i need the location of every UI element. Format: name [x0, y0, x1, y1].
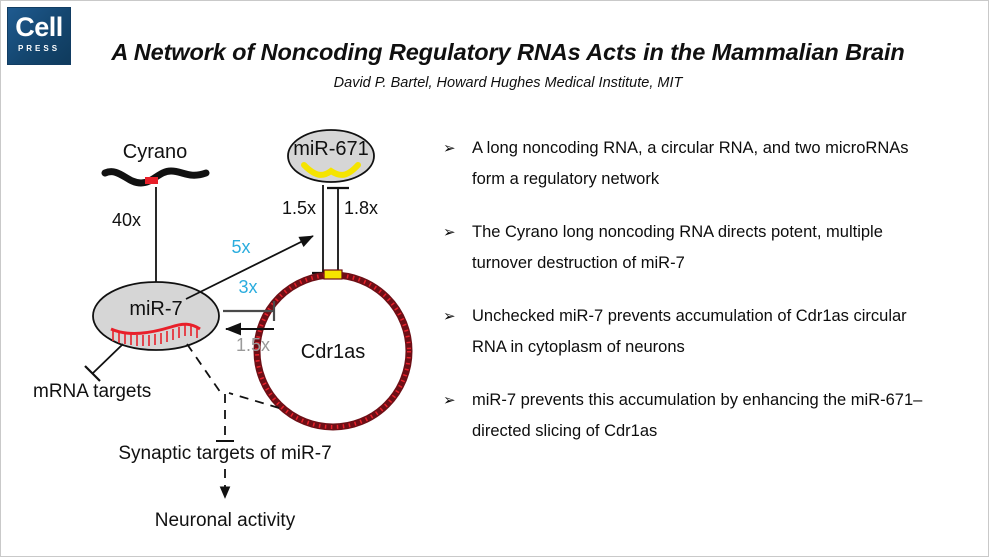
bullet-arrow-icon: ➢	[443, 301, 456, 332]
node-cdr1as: Cdr1as	[257, 270, 409, 427]
edge-mir671-to-cdr1as: 1.8x	[327, 188, 378, 273]
dashed-edge-mir7	[187, 344, 223, 396]
edge-label-1-5x-mir7: 1.5x	[236, 335, 270, 355]
page-subtitle: David P. Bartel, Howard Hughes Medical I…	[93, 75, 923, 91]
cell-logo-wordmark: Cell	[7, 12, 71, 42]
node-cyrano-label: Cyrano	[123, 141, 187, 163]
edge-label-1-8x: 1.8x	[344, 198, 378, 218]
node-cdr1as-label: Cdr1as	[301, 341, 365, 363]
bullet-arrow-icon: ➢	[443, 133, 456, 164]
bullet-text: miR-7 prevents this accumulation by enha…	[472, 391, 922, 440]
node-mir671-label: miR-671	[293, 138, 369, 160]
edge-label-5x: 5x	[231, 237, 250, 257]
bullet-list: ➢ A long noncoding RNA, a circular RNA, …	[438, 133, 938, 469]
node-mrna-targets-label: mRNA targets	[33, 381, 151, 402]
node-mir671: miR-671	[288, 130, 374, 182]
edge-cdr1as-to-mir671: 1.5x	[282, 185, 334, 273]
bullet-arrow-icon: ➢	[443, 217, 456, 248]
node-mir7-label: miR-7	[129, 298, 182, 320]
bullet-item: ➢ miR-7 prevents this accumulation by en…	[438, 385, 938, 447]
cyrano-mir7-site	[145, 177, 158, 184]
bullet-item: ➢ A long noncoding RNA, a circular RNA, …	[438, 133, 938, 195]
node-synaptic-targets-label: Synaptic targets of miR-7	[118, 443, 331, 464]
page-title: A Network of Noncoding Regulatory RNAs A…	[93, 39, 923, 66]
edge-to-neuronal-activity: Neuronal activity	[155, 469, 296, 531]
regulatory-network-diagram: Cyrano 40x miR-671 1.5x	[1, 101, 441, 551]
bullet-text: Unchecked miR-7 prevents accumulation of…	[472, 307, 907, 356]
bullet-item: ➢ The Cyrano long noncoding RNA directs …	[438, 217, 938, 279]
cell-press-logo: Cell PRESS	[7, 7, 71, 65]
bullet-text: The Cyrano long noncoding RNA directs po…	[472, 223, 883, 272]
bullet-arrow-icon: ➢	[443, 385, 456, 416]
edge-mir7-to-mrna-targets: mRNA targets	[33, 344, 151, 402]
bullet-item: ➢ Unchecked miR-7 prevents accumulation …	[438, 301, 938, 363]
bullet-text: A long noncoding RNA, a circular RNA, an…	[472, 139, 909, 188]
edge-cyrano-to-mir7: 40x	[112, 187, 168, 295]
cell-logo-press-text: PRESS	[7, 44, 71, 53]
edge-label-40x: 40x	[112, 210, 141, 230]
edge-label-3x: 3x	[238, 277, 257, 297]
node-cyrano: Cyrano	[105, 141, 206, 184]
edge-line	[93, 344, 123, 373]
slide: Cell PRESS A Network of Noncoding Regula…	[0, 0, 989, 557]
cdr1as-mir671-site	[324, 270, 342, 279]
node-neuronal-activity-label: Neuronal activity	[155, 510, 296, 531]
edge-label-1-5x-mir671: 1.5x	[282, 198, 316, 218]
